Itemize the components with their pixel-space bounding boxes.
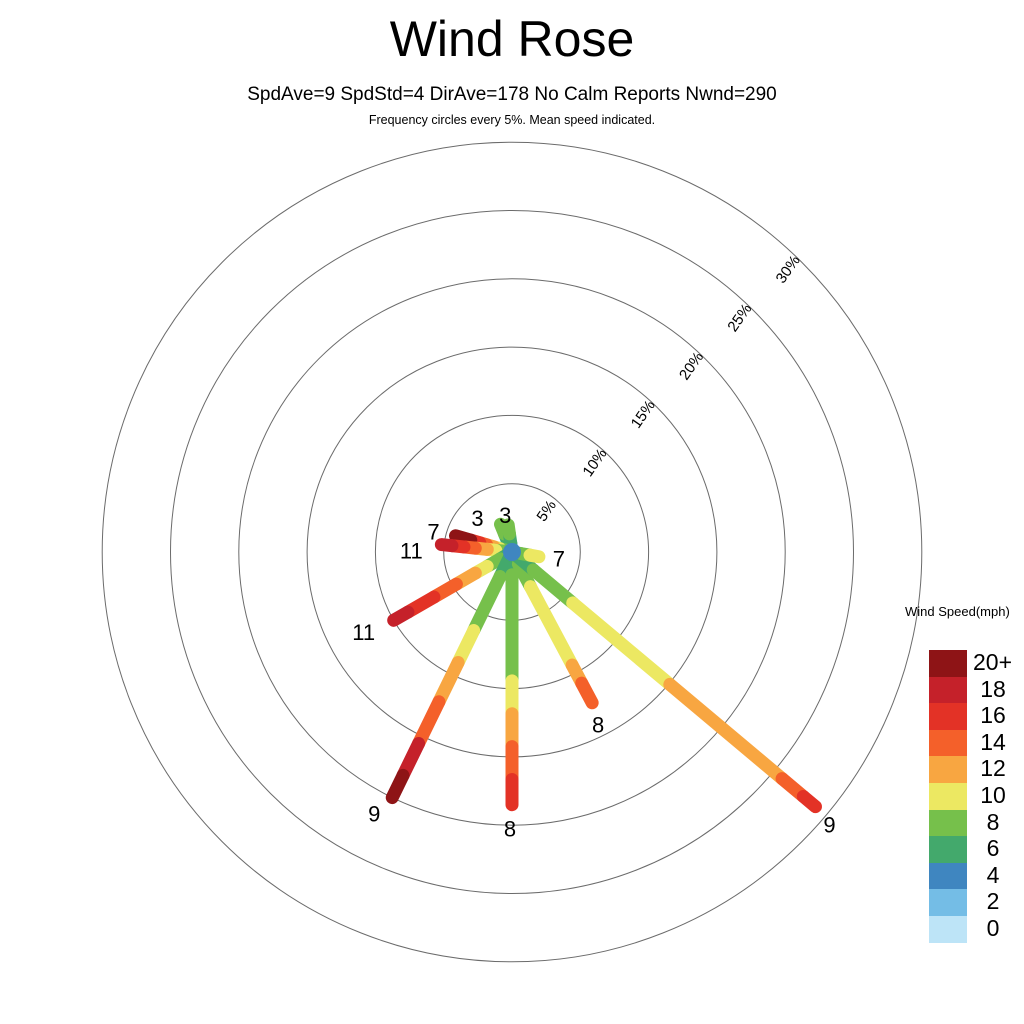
mean-speed-label: 9 <box>823 812 835 837</box>
legend-label: 16 <box>973 702 1013 729</box>
ring-label: 20% <box>676 349 707 383</box>
petal-segment <box>803 796 815 806</box>
legend-row: 0 <box>929 916 967 943</box>
legend-label: 6 <box>973 835 1013 862</box>
petal-segment <box>573 603 670 684</box>
legend-swatch <box>929 650 967 677</box>
center-hub <box>503 543 521 561</box>
legend-row: 8 <box>929 810 967 837</box>
legend-row: 4 <box>929 863 967 890</box>
legend-swatch <box>929 916 967 943</box>
legend-label: 8 <box>973 809 1013 836</box>
legend-label: 18 <box>973 676 1013 703</box>
wind-speed-legend: 20+181614121086420 <box>929 650 967 943</box>
legend-label: 10 <box>973 782 1013 809</box>
legend-swatch <box>929 889 967 916</box>
legend-swatch <box>929 783 967 810</box>
legend-row: 16 <box>929 703 967 730</box>
ring-labels: 5%10%15%20%25%30% <box>534 252 804 524</box>
legend-row: 20+ <box>929 650 967 677</box>
legend-row: 14 <box>929 730 967 757</box>
petal-segment <box>670 684 782 778</box>
legend-swatch <box>929 677 967 704</box>
legend-row: 10 <box>929 783 967 810</box>
legend-label: 20+ <box>973 649 1024 676</box>
legend-swatch <box>929 863 967 890</box>
mean-speed-label: 7 <box>553 547 565 572</box>
ring-label: 10% <box>579 446 610 480</box>
ring-label: 15% <box>628 397 659 431</box>
legend-row: 12 <box>929 756 967 783</box>
mean-speed-label: 9 <box>368 801 380 826</box>
legend-label: 14 <box>973 729 1013 756</box>
petal-sse <box>512 552 592 703</box>
legend-row: 2 <box>929 889 967 916</box>
mean-speed-label: 11 <box>400 538 423 563</box>
legend-swatch <box>929 756 967 783</box>
legend-swatch <box>929 730 967 757</box>
petal-ese <box>512 552 815 807</box>
legend-swatch <box>929 810 967 837</box>
petal-segment <box>392 775 403 797</box>
mean-speed-label: 8 <box>592 713 604 738</box>
ring-label: 30% <box>773 252 804 286</box>
mean-speed-label: 11 <box>352 620 375 645</box>
legend-swatch <box>929 836 967 863</box>
petal-segment <box>419 702 439 744</box>
legend-label: 0 <box>973 915 1013 942</box>
mean-speed-label: 3 <box>471 506 483 531</box>
petal-segment <box>441 545 452 546</box>
mean-speed-label: 8 <box>504 817 516 842</box>
legend-swatch <box>929 703 967 730</box>
petal-segment <box>582 683 592 703</box>
petal-segment <box>530 555 539 557</box>
petal-segment <box>456 536 471 540</box>
petal-segment <box>439 662 458 701</box>
legend-title: Wind Speed(mph) <box>905 604 1010 619</box>
mean-speed-label: 3 <box>499 503 511 528</box>
ring-label: 25% <box>724 301 755 335</box>
mean-speed-labels: 337111198897 <box>352 503 835 842</box>
petals-group <box>392 524 815 806</box>
legend-label: 4 <box>973 862 1013 889</box>
legend-row: 18 <box>929 677 967 704</box>
petal-segment <box>394 612 408 620</box>
legend-row: 6 <box>929 836 967 863</box>
ring-label: 5% <box>534 497 560 525</box>
legend-label: 2 <box>973 888 1013 915</box>
mean-speed-label: 7 <box>427 520 439 545</box>
wind-rose-page: Wind Rose SpdAve=9 SpdStd=4 DirAve=178 N… <box>0 0 1024 1024</box>
legend-label: 12 <box>973 755 1013 782</box>
petal-segment <box>474 577 500 631</box>
wind-rose-plot: 5%10%15%20%25%30% 337111198897 <box>0 0 1024 1024</box>
